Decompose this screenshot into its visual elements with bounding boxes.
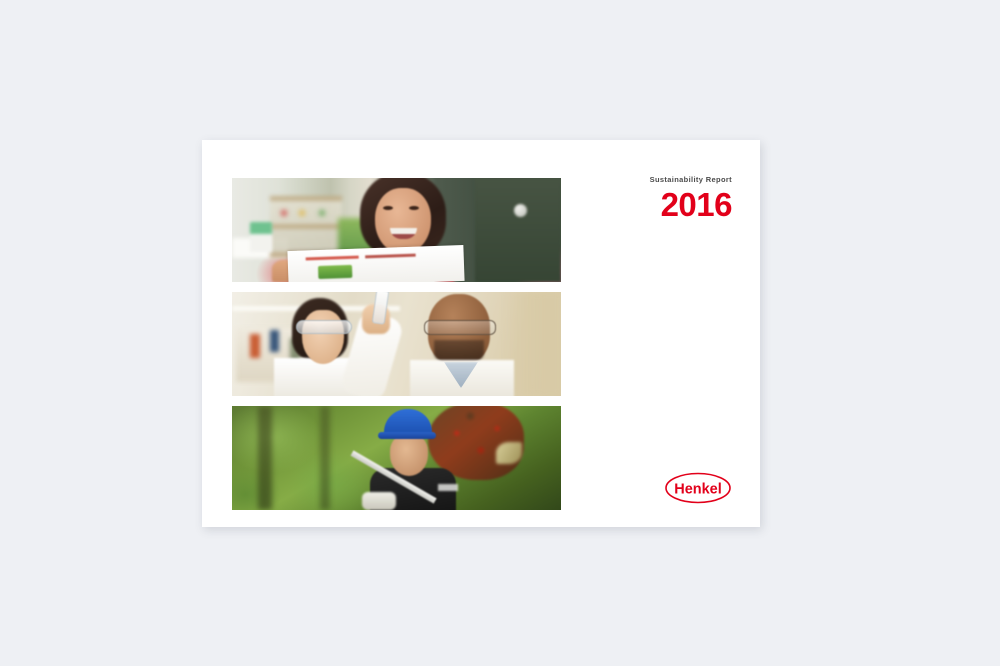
report-cover-page: Sustainability Report 2016: [202, 140, 760, 527]
palm-trunk-mid: [320, 406, 330, 510]
girl-face: [375, 188, 431, 254]
worker-glove: [362, 492, 396, 510]
classroom-scene: [232, 178, 561, 282]
palm-trunk-left: [258, 406, 272, 510]
classroom-door: [475, 178, 561, 282]
door-knob: [514, 204, 527, 217]
photo-stack: [232, 178, 561, 510]
photo-lab-scientists: [232, 292, 561, 396]
pencil-cup: [250, 222, 272, 252]
worker-face: [390, 434, 428, 476]
held-card: [287, 245, 464, 282]
photo-plantation-worker: [232, 406, 561, 510]
male-scientist-glasses: [424, 320, 496, 335]
card-text-line: [306, 254, 416, 261]
hard-hat-brim: [378, 432, 436, 439]
photo-classroom-girl: [232, 178, 561, 282]
girl-eye-left: [383, 206, 393, 210]
plantation-scene: [232, 406, 561, 510]
henkel-wordmark: Henkel: [674, 482, 722, 498]
safety-goggles: [296, 320, 352, 334]
card-green-block: [318, 265, 352, 279]
palm-frond-tip: [496, 442, 522, 464]
girl-eye-right: [409, 206, 419, 210]
worker-sleeve-trim: [438, 484, 458, 491]
female-scientist-face: [302, 310, 344, 364]
classroom-toys: [276, 204, 336, 222]
henkel-logo: Henkel: [664, 471, 732, 505]
lab-scene: [232, 292, 561, 396]
